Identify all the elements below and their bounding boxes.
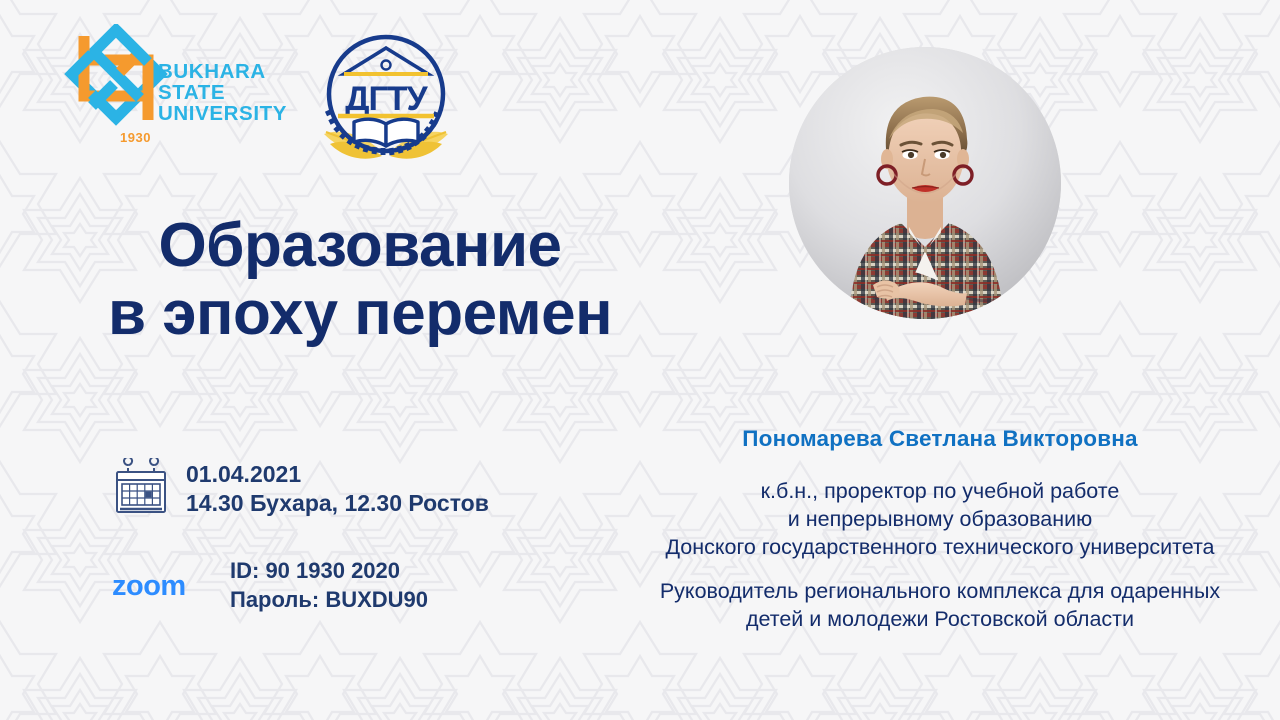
calendar-icon [110,458,172,520]
svg-text:ДГТУ: ДГТУ [345,80,428,118]
title-line-2: в эпоху перемен [0,280,720,348]
bsu-founding-year: 1930 [120,130,151,145]
speaker-role-line-1: к.б.н., проректор по учебной работе [600,478,1280,506]
event-times: 14.30 Бухара, 12.30 Ростов [186,489,489,518]
event-datetime-block: 01.04.2021 14.30 Бухара, 12.30 Ростов [110,458,489,520]
speaker-name: Пономарева Светлана Викторовна [600,426,1280,452]
event-datetime-text: 01.04.2021 14.30 Бухара, 12.30 Ростов [186,460,489,519]
speaker-role-line-3: Донского государственного технического у… [600,534,1280,562]
speaker-portrait-photo [789,47,1061,319]
speaker-info-block: Пономарева Светлана Викторовна к.б.н., п… [600,426,1280,634]
zoom-credentials: ID: 90 1930 2020 Пароль: BUXDU90 [230,556,428,614]
zoom-password: Пароль: BUXDU90 [230,585,428,614]
svg-text:zoom: zoom [112,570,186,602]
speaker-role2-line-2: детей и молодежи Ростовской области [600,606,1280,634]
speaker-role2-line-1: Руководитель регионального комплекса для… [600,578,1280,606]
bsu-word-state: STATE [158,83,287,104]
bukhara-interlocking-squares-icon [62,24,170,132]
poster-title: Образование в эпоху перемен [0,212,720,348]
zoom-meeting-block: zoom ID: 90 1930 2020 Пароль: BUXDU90 [112,556,428,614]
event-date: 01.04.2021 [186,460,489,489]
title-line-1: Образование [0,212,720,280]
zoom-logo-icon[interactable]: zoom [112,567,208,603]
speaker-role-line-2: и непрерывному образованию [600,506,1280,534]
bukhara-logo-wordmark: BUKHARA STATE UNIVERSITY [158,62,287,125]
bsu-word-bukhara: BUKHARA [158,62,287,83]
bukhara-state-university-logo: BUKHARA STATE UNIVERSITY 1930 [62,24,287,142]
speaker-role-primary: к.б.н., проректор по учебной работе и не… [600,478,1280,562]
dgtu-circular-emblem-icon: ДГТУ [310,22,462,174]
zoom-meeting-id: ID: 90 1930 2020 [230,556,428,585]
event-announcement-poster: BUKHARA STATE UNIVERSITY 1930 [0,0,1280,720]
bsu-word-university: UNIVERSITY [158,104,287,125]
speaker-role-secondary: Руководитель регионального комплекса для… [600,578,1280,634]
